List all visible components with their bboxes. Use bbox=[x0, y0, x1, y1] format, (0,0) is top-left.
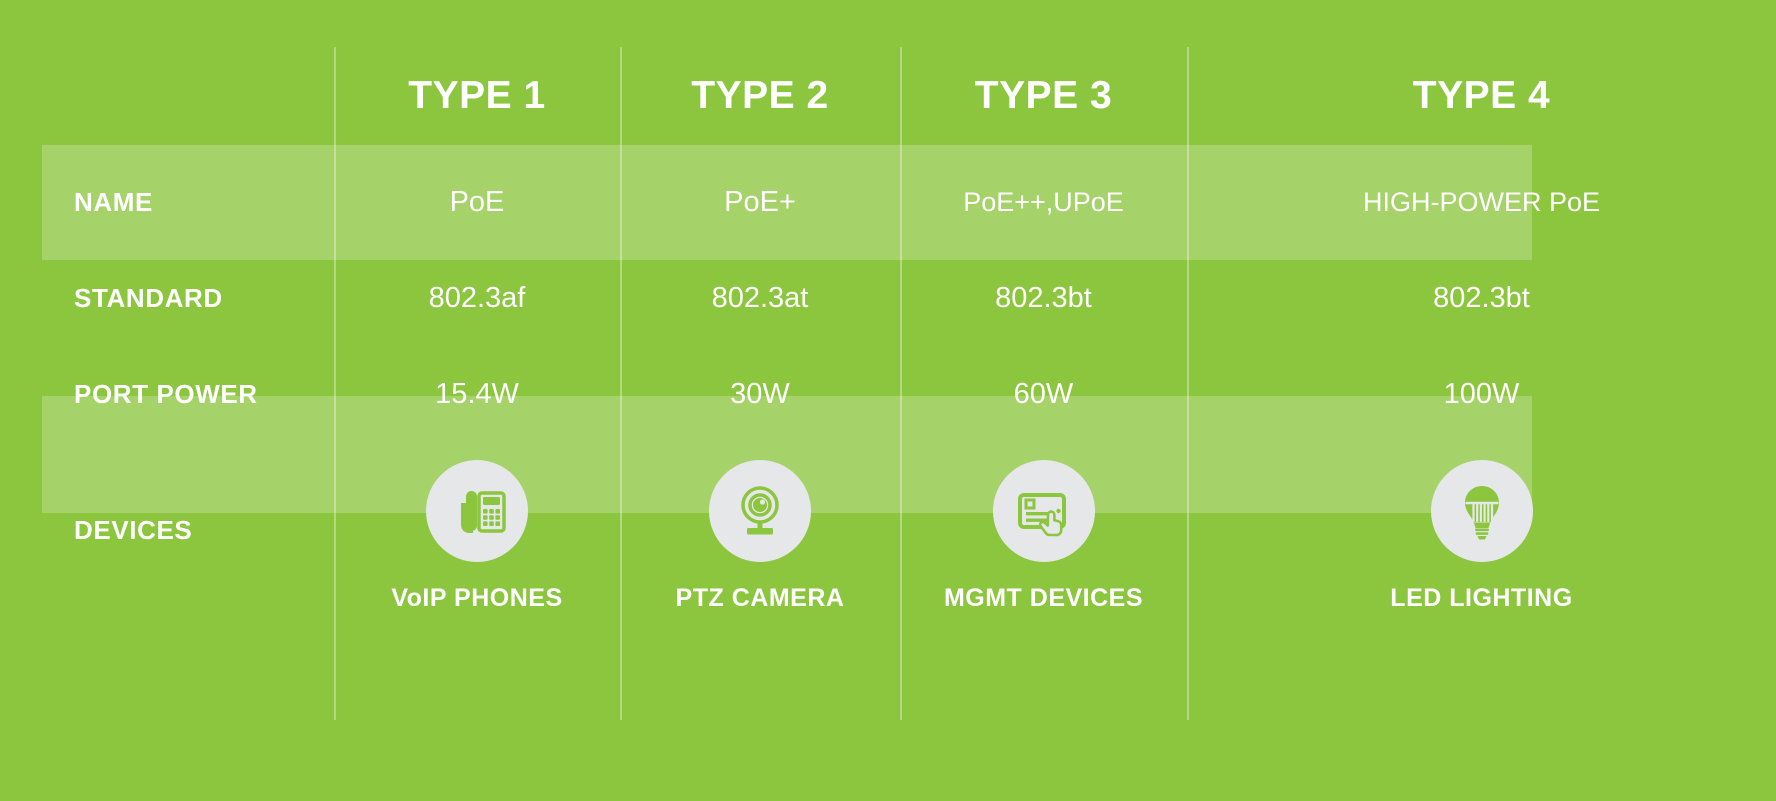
cell-name-type-1: PoE bbox=[334, 145, 620, 260]
cell-port-power-type-1: 15.4W bbox=[334, 336, 620, 453]
row-label-standard: STANDARD bbox=[0, 260, 334, 336]
column-header-type-4: TYPE 4 bbox=[1187, 47, 1776, 145]
device-cell-type-1: VoIP PHONES bbox=[334, 453, 620, 539]
column-header-type-3: TYPE 3 bbox=[900, 47, 1187, 145]
cell-name-type-2: PoE+ bbox=[620, 145, 900, 260]
device-label-type-2: PTZ CAMERA bbox=[676, 584, 845, 613]
header-corner-cell bbox=[0, 47, 334, 145]
ptz-camera-icon bbox=[709, 460, 811, 562]
table-top-spacer bbox=[0, 0, 1776, 47]
device-label-type-4: LED LIGHTING bbox=[1390, 584, 1572, 613]
row-label-port-power: PORT POWER bbox=[0, 336, 334, 453]
cell-port-power-type-2: 30W bbox=[620, 336, 900, 453]
cell-port-power-type-4: 100W bbox=[1187, 336, 1776, 453]
cell-standard-type-2: 802.3at bbox=[620, 260, 900, 336]
device-label-type-3: MGMT DEVICES bbox=[944, 584, 1143, 613]
tablet-touch-icon bbox=[993, 460, 1095, 562]
device-label-type-1: VoIP PHONES bbox=[391, 584, 562, 613]
desk-phone-icon bbox=[426, 460, 528, 562]
cell-standard-type-1: 802.3af bbox=[334, 260, 620, 336]
device-cell-type-4: LED LIGHTING bbox=[1187, 453, 1776, 539]
device-cell-type-2: PTZ CAMERA bbox=[620, 453, 900, 539]
table-bottom-spacer bbox=[0, 539, 1776, 801]
device-cell-type-3: MGMT DEVICES bbox=[900, 453, 1187, 539]
row-label-name: NAME bbox=[0, 145, 334, 260]
column-header-type-1: TYPE 1 bbox=[334, 47, 620, 145]
cell-name-type-4: HIGH-POWER PoE bbox=[1187, 145, 1776, 260]
cell-port-power-type-3: 60W bbox=[900, 336, 1187, 453]
column-header-type-2: TYPE 2 bbox=[620, 47, 900, 145]
cell-standard-type-4: 802.3bt bbox=[1187, 260, 1776, 336]
cell-standard-type-3: 802.3bt bbox=[900, 260, 1187, 336]
poe-comparison-table: TYPE 1 TYPE 2 TYPE 3 TYPE 4 NAME PoE PoE… bbox=[0, 0, 1776, 801]
cell-name-type-3: PoE++,UPoE bbox=[900, 145, 1187, 260]
row-label-devices: DEVICES bbox=[0, 453, 334, 539]
led-bulb-icon bbox=[1431, 460, 1533, 562]
